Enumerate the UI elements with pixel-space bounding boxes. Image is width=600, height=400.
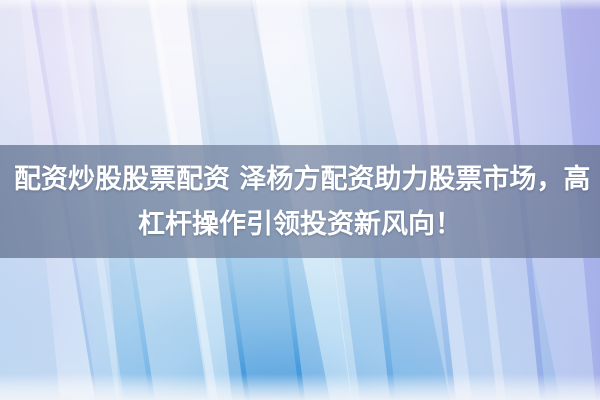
top-light-haze [0, 0, 600, 10]
headline-line-1: 配资炒股股票配资 泽杨方配资助力股票市场，高 [14, 164, 590, 195]
promo-banner: 配资炒股股票配资 泽杨方配资助力股票市场，高 杠杆操作引领投资新风向！ [0, 0, 600, 400]
headline-line-2: 杠杆操作引领投资新风向！ [14, 202, 586, 247]
headline-overlay-band: 配资炒股股票配资 泽杨方配资助力股票市场，高 杠杆操作引领投资新风向！ [0, 145, 600, 258]
banner-headline: 配资炒股股票配资 泽杨方配资助力股票市场，高 杠杆操作引领投资新风向！ [0, 157, 600, 247]
bottom-light-haze [0, 374, 600, 400]
